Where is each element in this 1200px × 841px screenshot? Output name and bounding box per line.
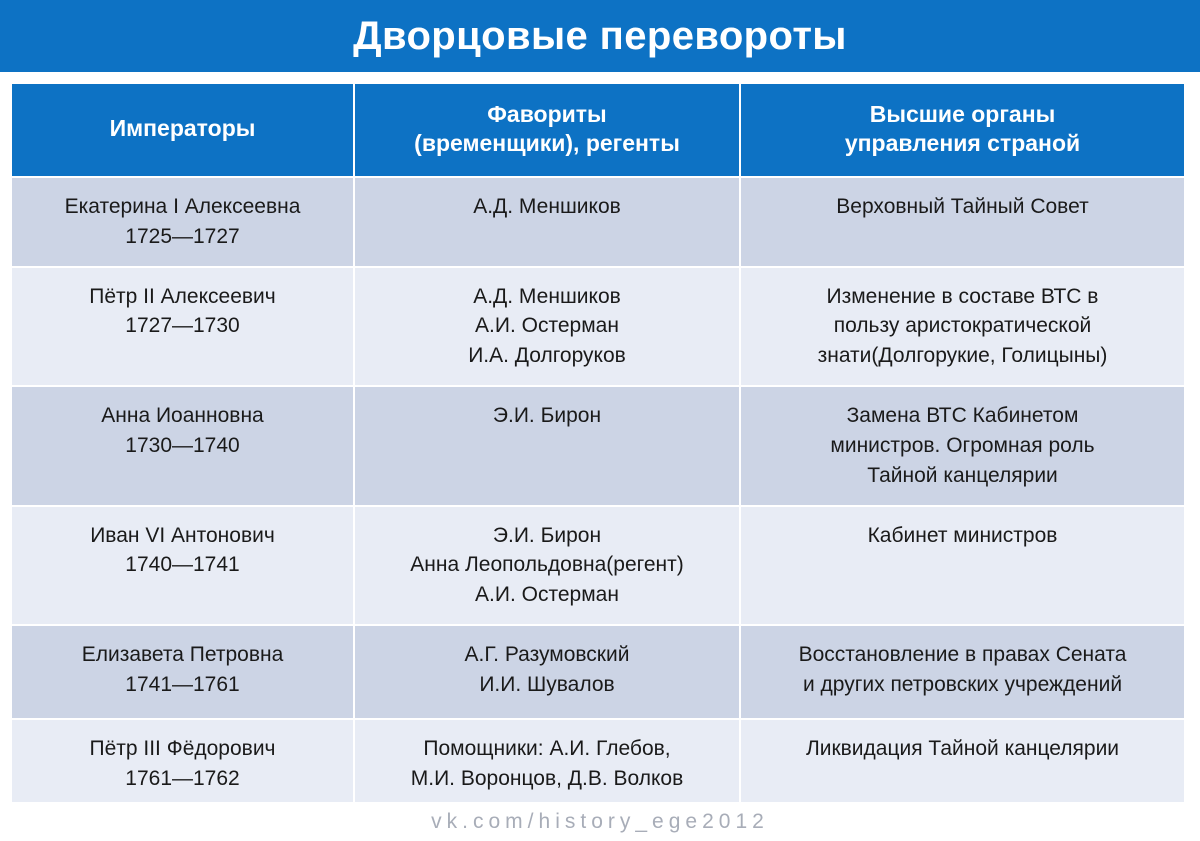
emperor-years: 1741—1761: [22, 670, 343, 700]
cell-emperor: Елизавета Петровна 1741—1761: [12, 626, 355, 720]
cell-favorites: А.Д. Меншиков А.И. Остерман И.А. Долгору…: [355, 268, 741, 387]
emperor-name: Пётр III Фёдорович: [22, 734, 343, 764]
organ-entry: Верховный Тайный Совет: [751, 192, 1174, 222]
favorite-entry: А.Д. Меншиков: [365, 192, 729, 222]
column-header-organs: Высшие органы управления страной: [741, 84, 1184, 178]
table-row: Екатерина I Алексеевна 1725—1727 А.Д. Ме…: [12, 178, 1184, 268]
column-header-favorites-line-1: Фавориты: [363, 100, 731, 129]
emperor-years: 1740—1741: [22, 550, 343, 580]
column-header-emperors-line-1: Императоры: [20, 114, 345, 143]
organ-entry: Тайной канцелярии: [751, 461, 1174, 491]
emperor-years: 1727—1730: [22, 311, 343, 341]
organ-entry: Кабинет министров: [751, 521, 1174, 551]
footer-watermark: vk.com/history_ege2012: [431, 810, 769, 834]
favorite-entry: Э.И. Бирон: [365, 401, 729, 431]
cell-emperor: Иван VI Антонович 1740—1741: [12, 507, 355, 626]
emperor-name: Пётр II Алексеевич: [22, 282, 343, 312]
cell-organs: Изменение в составе ВТС в пользу аристок…: [741, 268, 1184, 387]
favorite-entry: Помощники: А.И. Глебов,: [365, 734, 729, 764]
cell-favorites: А.Г. Разумовский И.И. Шувалов: [355, 626, 741, 720]
cell-organs: Верховный Тайный Совет: [741, 178, 1184, 268]
organ-entry: и других петровских учреждений: [751, 670, 1174, 700]
table-row: Анна Иоанновна 1730—1740 Э.И. Бирон Заме…: [12, 387, 1184, 506]
organ-entry: Восстановление в правах Сената: [751, 640, 1174, 670]
page-title: Дворцовые перевороты: [353, 16, 847, 56]
cell-emperor: Анна Иоанновна 1730—1740: [12, 387, 355, 506]
favorite-entry: А.И. Остерман: [365, 580, 729, 610]
favorite-entry: И.А. Долгоруков: [365, 341, 729, 371]
footer-watermark-bar: vk.com/history_ege2012: [0, 802, 1200, 841]
cell-favorites: А.Д. Меншиков: [355, 178, 741, 268]
cell-organs: Замена ВТС Кабинетом министров. Огромная…: [741, 387, 1184, 506]
favorite-entry: Анна Леопольдовна(регент): [365, 550, 729, 580]
organ-entry: Замена ВТС Кабинетом: [751, 401, 1174, 431]
title-banner: Дворцовые перевороты: [0, 0, 1200, 72]
emperor-name: Екатерина I Алексеевна: [22, 192, 343, 222]
column-header-favorites: Фавориты (временщики), регенты: [355, 84, 741, 178]
column-header-emperors: Императоры: [12, 84, 355, 178]
favorite-entry: А.Д. Меншиков: [365, 282, 729, 312]
table-row: Елизавета Петровна 1741—1761 А.Г. Разумо…: [12, 626, 1184, 720]
favorite-entry: И.И. Шувалов: [365, 670, 729, 700]
table-row: Иван VI Антонович 1740—1741 Э.И. Бирон А…: [12, 507, 1184, 626]
emperor-years: 1761—1762: [22, 764, 343, 794]
emperor-name: Анна Иоанновна: [22, 401, 343, 431]
favorite-entry: А.И. Остерман: [365, 311, 729, 341]
organ-entry: пользу аристократической: [751, 311, 1174, 341]
column-header-favorites-line-2: (временщики), регенты: [363, 129, 731, 158]
table-body: Екатерина I Алексеевна 1725—1727 А.Д. Ме…: [12, 178, 1184, 820]
favorite-entry: М.И. Воронцов, Д.В. Волков: [365, 764, 729, 794]
emperor-years: 1730—1740: [22, 431, 343, 461]
emperor-years: 1725—1727: [22, 222, 343, 252]
column-header-organs-line-1: Высшие органы: [749, 100, 1176, 129]
cell-organs: Восстановление в правах Сената и других …: [741, 626, 1184, 720]
slide-page: Дворцовые перевороты Императоры Фавориты…: [0, 0, 1200, 841]
organ-entry: министров. Огромная роль: [751, 431, 1174, 461]
palace-coups-table-container: Императоры Фавориты (временщики), регент…: [12, 84, 1184, 820]
favorite-entry: А.Г. Разумовский: [365, 640, 729, 670]
table-header: Императоры Фавориты (временщики), регент…: [12, 84, 1184, 178]
organ-entry: знати(Долгорукие, Голицыны): [751, 341, 1174, 371]
cell-favorites: Э.И. Бирон: [355, 387, 741, 506]
column-header-organs-line-2: управления страной: [749, 129, 1176, 158]
cell-favorites: Э.И. Бирон Анна Леопольдовна(регент) А.И…: [355, 507, 741, 626]
emperor-name: Елизавета Петровна: [22, 640, 343, 670]
favorite-entry: Э.И. Бирон: [365, 521, 729, 551]
cell-emperor: Екатерина I Алексеевна 1725—1727: [12, 178, 355, 268]
cell-emperor: Пётр II Алексеевич 1727—1730: [12, 268, 355, 387]
table-row: Пётр II Алексеевич 1727—1730 А.Д. Меншик…: [12, 268, 1184, 387]
emperor-name: Иван VI Антонович: [22, 521, 343, 551]
organ-entry: Изменение в составе ВТС в: [751, 282, 1174, 312]
organ-entry: Ликвидация Тайной канцелярии: [751, 734, 1174, 764]
palace-coups-table: Императоры Фавориты (временщики), регент…: [12, 84, 1184, 820]
table-header-row: Императоры Фавориты (временщики), регент…: [12, 84, 1184, 178]
cell-organs: Кабинет министров: [741, 507, 1184, 626]
